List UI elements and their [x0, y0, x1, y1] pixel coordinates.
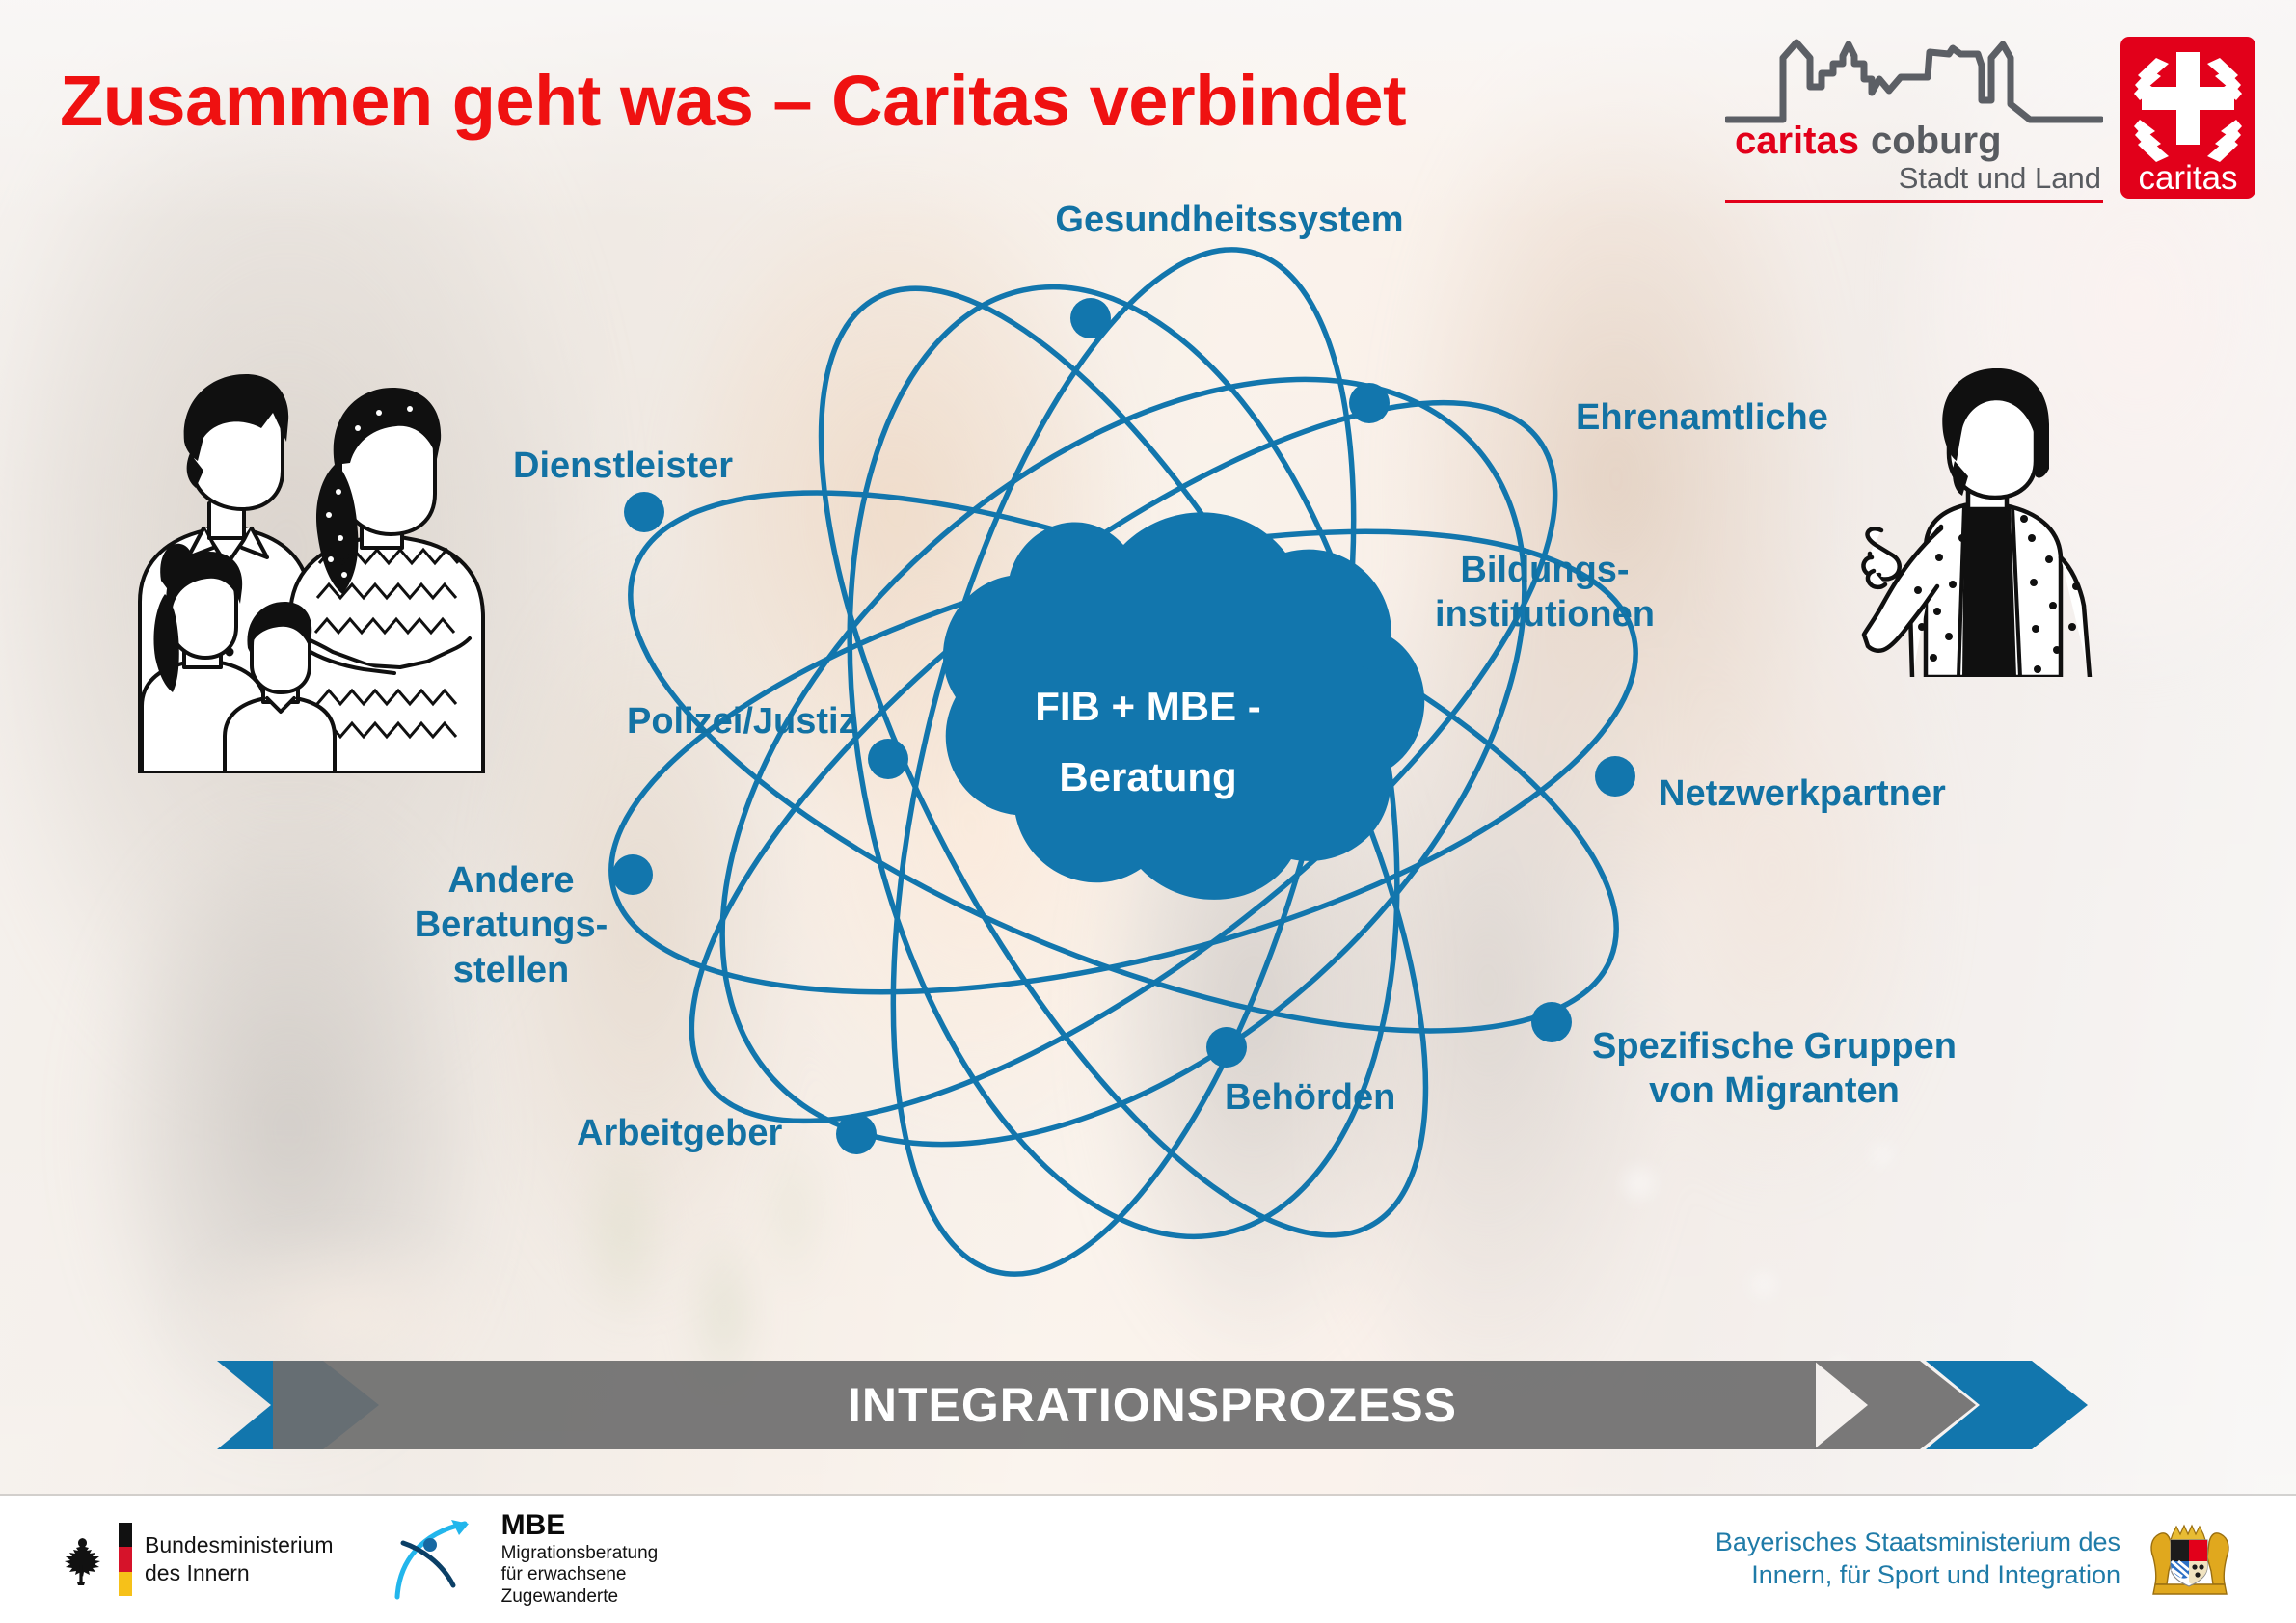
- slide-root: Zusammen geht was – Caritas verbindet ca…: [0, 0, 2296, 1623]
- mbe-logo: MBE Migrationsberatung für erwachsene Zu…: [392, 1511, 659, 1608]
- node-label-spezifische-gruppen-l2: von Migranten: [1592, 1068, 1957, 1113]
- coburg-skyline-icon: [1725, 37, 2103, 125]
- coburg-caritas-word: caritas: [1735, 122, 1859, 160]
- bayern-ministry-text: Bayerisches Staatsministerium des Innern…: [1715, 1527, 2120, 1592]
- german-flag-bar: [119, 1523, 132, 1596]
- caritas-cross-icon: caritas: [2120, 37, 2255, 199]
- node-label-andere-beratungsstellen: Andere Beratungs- stellen: [415, 858, 608, 992]
- mbe-title: MBE: [501, 1511, 659, 1540]
- node-label-andere-beratungsstellen-l1: Andere: [415, 858, 608, 903]
- node-label-andere-beratungsstellen-l3: stellen: [415, 948, 608, 992]
- coburg-logo-group: caritas coburg Stadt und Land: [1725, 37, 2103, 203]
- node-label-bildungsinstitutionen: Bildungs- institutionen: [1435, 548, 1655, 637]
- bayern-line2: Innern, für Sport und Integration: [1715, 1559, 2120, 1592]
- node-label-polizei-justiz: Polizei/Justiz: [627, 699, 857, 744]
- caritas-coburg-logo: caritas coburg Stadt und Land: [1725, 37, 2255, 203]
- mbe-line1: Migrationsberatung: [501, 1543, 659, 1564]
- bavaria-coat-of-arms-icon: [2144, 1513, 2236, 1606]
- federal-eagle-icon: [56, 1532, 106, 1586]
- mbe-line2: für erwachsene: [501, 1564, 659, 1585]
- node-label-bildungsinstitutionen-l2: institutionen: [1435, 592, 1655, 636]
- integration-process-bar: INTEGRATIONSPROZESS: [217, 1361, 2088, 1449]
- node-label-ehrenamtliche: Ehrenamtliche: [1576, 395, 1828, 440]
- bmi-line1: Bundesministerium: [145, 1531, 334, 1559]
- coburg-city-word: coburg: [1871, 122, 2002, 160]
- bayern-line1: Bayerisches Staatsministerium des: [1715, 1527, 2120, 1559]
- footer-bar: Bundesministerium des Innern MBE Migrati…: [0, 1496, 2296, 1623]
- node-label-spezifische-gruppen: Spezifische Gruppen von Migranten: [1592, 1024, 1957, 1114]
- node-label-andere-beratungsstellen-l2: Beratungs-: [415, 903, 608, 947]
- node-label-dienstleister: Dienstleister: [513, 444, 733, 488]
- mbe-text: MBE Migrationsberatung für erwachsene Zu…: [501, 1511, 659, 1608]
- bmi-text: Bundesministerium des Innern: [145, 1531, 334, 1587]
- mbe-line3: Zugewanderte: [501, 1586, 659, 1608]
- page-title: Zusammen geht was – Caritas verbindet: [60, 60, 1406, 142]
- coburg-subtitle: Stadt und Land: [1725, 162, 2103, 194]
- bmi-logo: Bundesministerium des Innern: [56, 1523, 334, 1596]
- family-of-four-illustration: [121, 359, 497, 773]
- node-label-behoerden: Behörden: [1225, 1075, 1395, 1120]
- mbe-figure-icon: [392, 1518, 488, 1601]
- node-label-arbeitgeber: Arbeitgeber: [577, 1111, 782, 1155]
- node-label-bildungsinstitutionen-l1: Bildungs-: [1435, 548, 1655, 592]
- coburg-wordmark: caritas coburg: [1725, 122, 2103, 160]
- process-bar-label: INTEGRATIONSPROZESS: [217, 1361, 2088, 1449]
- bmi-line2: des Innern: [145, 1559, 334, 1587]
- coburg-rule: [1725, 200, 2103, 203]
- node-label-spezifische-gruppen-l1: Spezifische Gruppen: [1592, 1024, 1957, 1068]
- caritas-flame-cross-logo: caritas: [2120, 37, 2255, 199]
- node-label-netzwerkpartner: Netzwerkpartner: [1659, 771, 1946, 816]
- svg-text:caritas: caritas: [2138, 159, 2237, 197]
- node-label-gesundheitssystem: Gesundheitssystem: [1055, 198, 1403, 242]
- pointing-advisor-illustration: [1818, 368, 2097, 677]
